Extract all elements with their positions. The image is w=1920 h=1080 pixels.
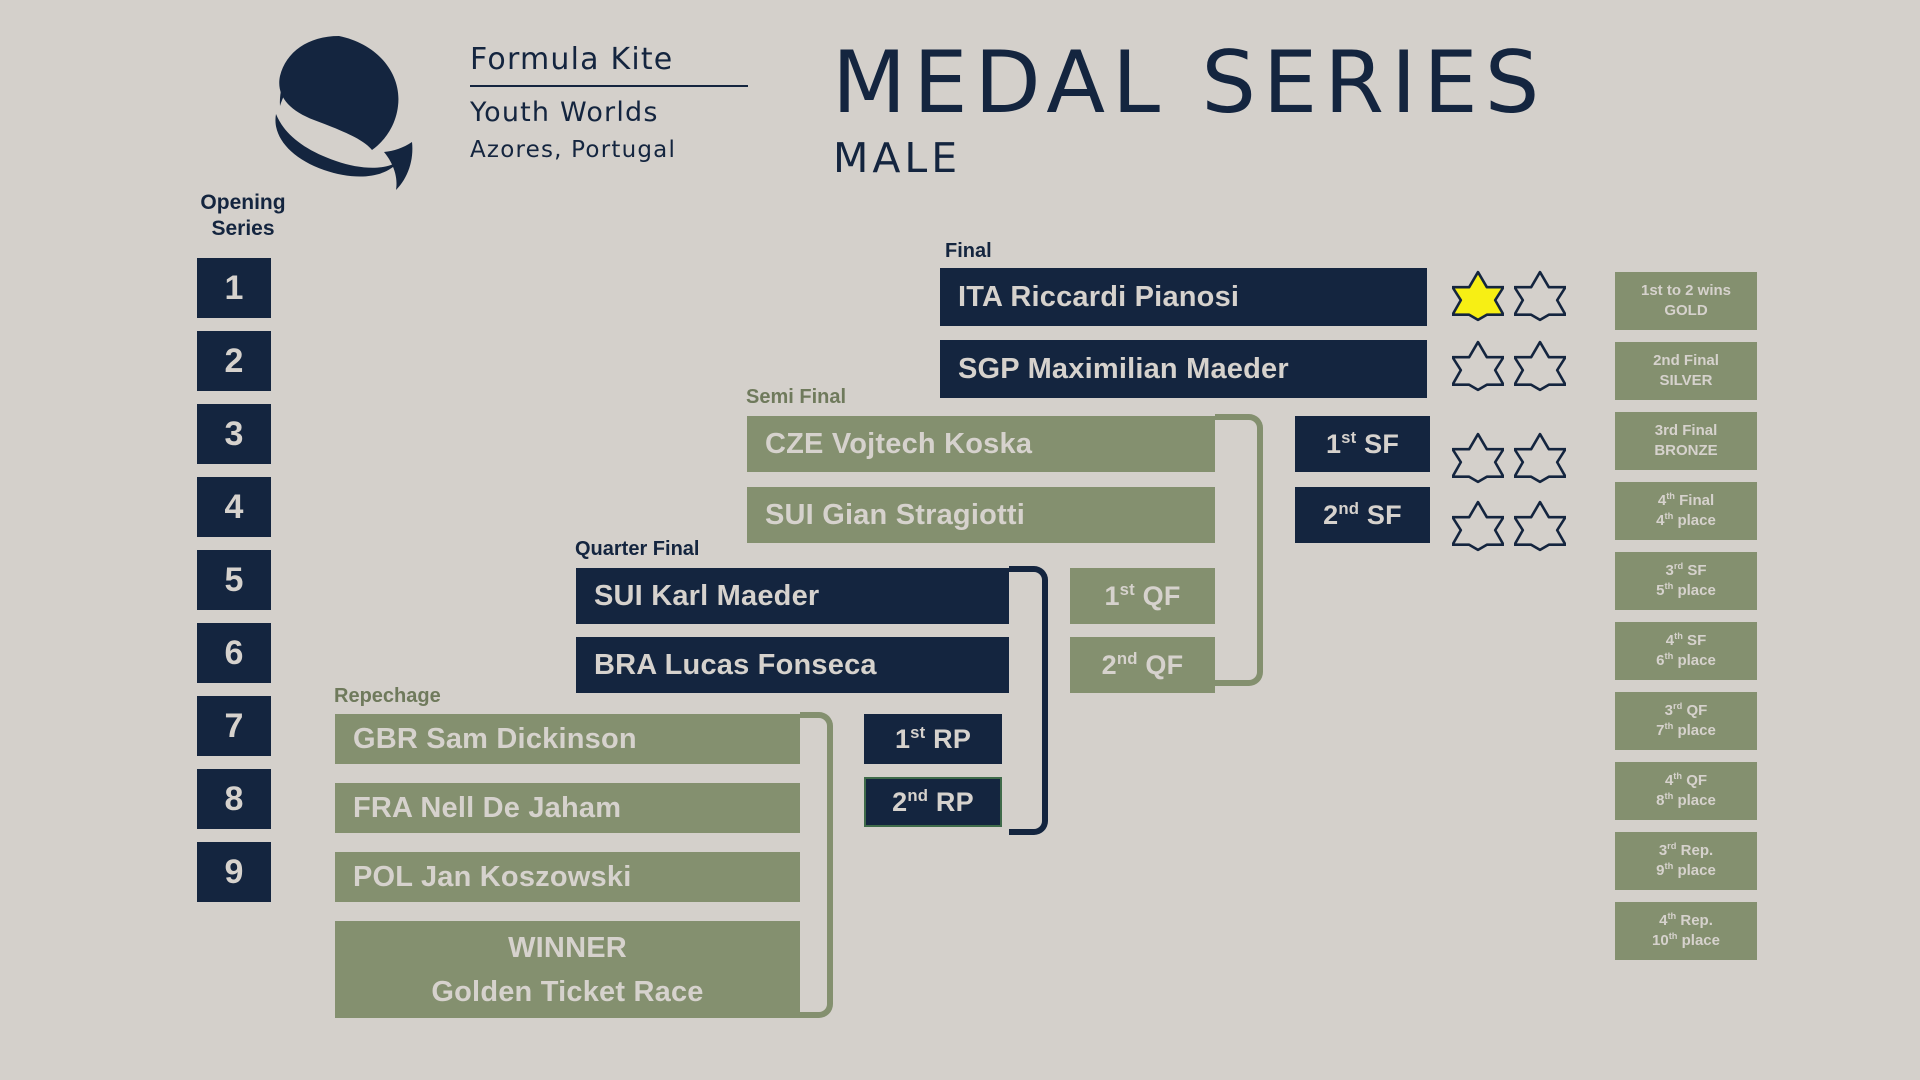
legend-item-5th-place-line2: 5th place	[1656, 581, 1716, 601]
repechage-qualifier-2nd-rp-label: 2nd RP	[892, 787, 974, 818]
quarter-final-connector	[1009, 566, 1048, 835]
quarter-final-athlete-1[interactable]: SUI Karl Maeder	[576, 568, 1009, 624]
legend-item-5th-place-line1: 3rd SF	[1666, 561, 1707, 581]
semi-final-qualifier-2nd-sf[interactable]: 2nd SF	[1295, 487, 1430, 543]
legend-item-7th-place: 3rd QF 7th place	[1615, 692, 1757, 750]
opening-series-caption: Opening Series	[188, 190, 298, 242]
legend-item-10th-place: 4th Rep. 10th place	[1615, 902, 1757, 960]
star-empty-icon	[1514, 270, 1566, 322]
legend-item-gold-line2: GOLD	[1664, 301, 1707, 321]
legend-item-6th-place-line2: 6th place	[1656, 651, 1716, 671]
quarter-final-qualifier-1st-qf-label: 1st QF	[1104, 581, 1180, 612]
semi-final-qualifier-2nd-sf-label: 2nd SF	[1323, 500, 1402, 531]
legend-item-bronze-line1: 3rd Final	[1655, 421, 1718, 441]
repechage-qualifier-1st-rp-label: 1st RP	[895, 724, 971, 755]
semi-final-qualifier-1st-sf[interactable]: 1st SF	[1295, 416, 1430, 472]
page-subtitle: MALE	[833, 136, 961, 180]
legend-item-9th-place-line2: 9th place	[1656, 861, 1716, 881]
legend-item-9th-place: 3rd Rep. 9th place	[1615, 832, 1757, 890]
star-empty-icon	[1452, 500, 1504, 552]
logo-line-youth-worlds: Youth Worlds	[470, 96, 760, 129]
repechage-connector	[800, 712, 833, 1018]
legend-item-gold-line1: 1st to 2 wins	[1641, 281, 1731, 301]
legend-item-bronze-line2: BRONZE	[1654, 441, 1717, 461]
semi-final-2nd-sf-stars	[1452, 500, 1572, 556]
quarter-final-caption: Quarter Final	[575, 538, 699, 561]
repechage-qualifier-1st-rp[interactable]: 1st RP	[864, 714, 1002, 764]
legend-item-6th-place: 4th SF 6th place	[1615, 622, 1757, 680]
legend-item-silver: 2nd Final SILVER	[1615, 342, 1757, 400]
star-filled-icon	[1452, 270, 1504, 322]
legend-item-silver-line1: 2nd Final	[1653, 351, 1719, 371]
legend-item-10th-place-line2: 10th place	[1652, 931, 1720, 951]
repechage-athlete-3[interactable]: POL Jan Koszowski	[335, 852, 800, 902]
legend-item-10th-place-line1: 4th Rep.	[1659, 911, 1713, 931]
logo-line-formula-kite: Formula Kite	[470, 42, 760, 78]
legend-item-4th-place: 4th Final 4th place	[1615, 482, 1757, 540]
opening-series-rank-5[interactable]: 5	[197, 550, 271, 610]
legend-item-silver-line2: SILVER	[1659, 371, 1712, 391]
opening-series-rank-8[interactable]: 8	[197, 769, 271, 829]
logo-line-location: Azores, Portugal	[470, 135, 760, 165]
quarter-final-qualifier-1st-qf[interactable]: 1st QF	[1070, 568, 1215, 624]
formula-kite-logo-icon	[246, 28, 432, 196]
opening-series-rank-1[interactable]: 1	[197, 258, 271, 318]
final-athlete-2[interactable]: SGP Maximilian Maeder	[940, 340, 1427, 398]
semi-final-athlete-1[interactable]: CZE Vojtech Koska	[747, 416, 1215, 472]
repechage-athlete-4-line1: WINNER	[508, 926, 627, 970]
star-empty-icon	[1514, 500, 1566, 552]
opening-series-rank-6[interactable]: 6	[197, 623, 271, 683]
opening-series-rank-7[interactable]: 7	[197, 696, 271, 756]
final-athlete-1-stars	[1452, 270, 1572, 326]
page-title: MEDAL SERIES	[832, 38, 1546, 128]
legend-item-8th-place: 4th QF 8th place	[1615, 762, 1757, 820]
legend-item-7th-place-line2: 7th place	[1656, 721, 1716, 741]
legend-item-4th-place-line1: 4th Final	[1658, 491, 1714, 511]
star-empty-icon	[1514, 432, 1566, 484]
repechage-athlete-4-line2: Golden Ticket Race	[431, 970, 703, 1014]
legend-item-7th-place-line1: 3rd QF	[1665, 701, 1708, 721]
legend-item-9th-place-line1: 3rd Rep.	[1659, 841, 1713, 861]
opening-series-rank-3[interactable]: 3	[197, 404, 271, 464]
semi-final-1st-sf-stars	[1452, 432, 1572, 488]
placings-legend: 1st to 2 wins GOLD 2nd Final SILVER 3rd …	[1615, 272, 1757, 972]
star-empty-icon	[1452, 340, 1504, 392]
star-empty-icon	[1452, 432, 1504, 484]
semi-final-connector	[1215, 414, 1263, 686]
repechage-athlete-2[interactable]: FRA Nell De Jaham	[335, 783, 800, 833]
legend-item-bronze: 3rd Final BRONZE	[1615, 412, 1757, 470]
repechage-qualifier-2nd-rp[interactable]: 2nd RP	[864, 777, 1002, 827]
semi-final-athlete-2[interactable]: SUI Gian Stragiotti	[747, 487, 1215, 543]
logo-wordmark: Formula Kite Youth Worlds Azores, Portug…	[470, 42, 760, 165]
opening-series-caption-line1: Opening	[188, 190, 298, 216]
medal-series-bracket: Formula Kite Youth Worlds Azores, Portug…	[0, 0, 1920, 1080]
star-empty-icon	[1514, 340, 1566, 392]
opening-series-rank-4[interactable]: 4	[197, 477, 271, 537]
legend-item-6th-place-line1: 4th SF	[1666, 631, 1706, 651]
legend-item-8th-place-line1: 4th QF	[1665, 771, 1707, 791]
quarter-final-qualifier-2nd-qf[interactable]: 2nd QF	[1070, 637, 1215, 693]
semi-final-qualifier-1st-sf-label: 1st SF	[1326, 429, 1399, 460]
legend-item-8th-place-line2: 8th place	[1656, 791, 1716, 811]
legend-item-5th-place: 3rd SF 5th place	[1615, 552, 1757, 610]
opening-series-rank-9[interactable]: 9	[197, 842, 271, 902]
quarter-final-qualifier-2nd-qf-label: 2nd QF	[1102, 650, 1184, 681]
legend-item-gold: 1st to 2 wins GOLD	[1615, 272, 1757, 330]
quarter-final-athlete-2[interactable]: BRA Lucas Fonseca	[576, 637, 1009, 693]
semi-final-caption: Semi Final	[746, 386, 846, 409]
final-caption: Final	[945, 240, 992, 263]
legend-item-4th-place-line2: 4th place	[1656, 511, 1716, 531]
repechage-athlete-4[interactable]: WINNER Golden Ticket Race	[335, 921, 800, 1018]
final-athlete-2-stars	[1452, 340, 1572, 396]
logo-divider	[470, 85, 748, 87]
opening-series-caption-line2: Series	[188, 216, 298, 242]
opening-series-rank-2[interactable]: 2	[197, 331, 271, 391]
repechage-caption: Repechage	[334, 685, 441, 708]
final-athlete-1[interactable]: ITA Riccardi Pianosi	[940, 268, 1427, 326]
repechage-athlete-1[interactable]: GBR Sam Dickinson	[335, 714, 800, 764]
